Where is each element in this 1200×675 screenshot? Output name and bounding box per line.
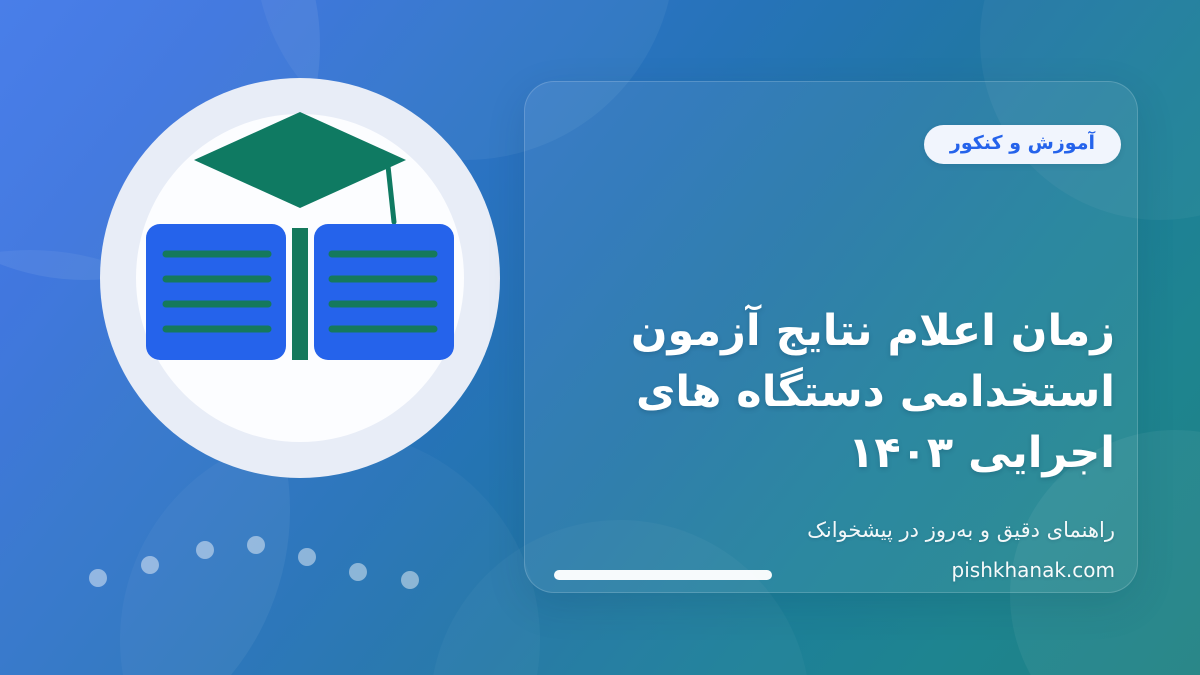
- decorative-dot-7: [401, 571, 419, 589]
- decorative-dot-1: [89, 569, 107, 587]
- decorative-dot-4: [247, 536, 265, 554]
- decorative-dot-2: [141, 556, 159, 574]
- decorative-dot-3: [196, 541, 214, 559]
- category-badge[interactable]: آموزش و کنکور: [924, 125, 1121, 164]
- decorative-dot-5: [298, 548, 316, 566]
- accent-bar: [554, 570, 772, 580]
- promo-banner: آموزش و کنکور زمان اعلام نتایج آزمون است…: [0, 0, 1200, 675]
- open-book-icon: [146, 224, 454, 360]
- decorative-dot-6: [349, 563, 367, 581]
- education-illustration: [100, 78, 500, 478]
- page-title: زمان اعلام نتایج آزمون استخدامی دستگاه ه…: [547, 301, 1115, 484]
- graduation-cap-icon: [192, 110, 408, 230]
- content-card: آموزش و کنکور زمان اعلام نتایج آزمون است…: [524, 81, 1138, 593]
- subtitle: راهنمای دقیق و به‌روز در پیشخوانک: [547, 515, 1115, 547]
